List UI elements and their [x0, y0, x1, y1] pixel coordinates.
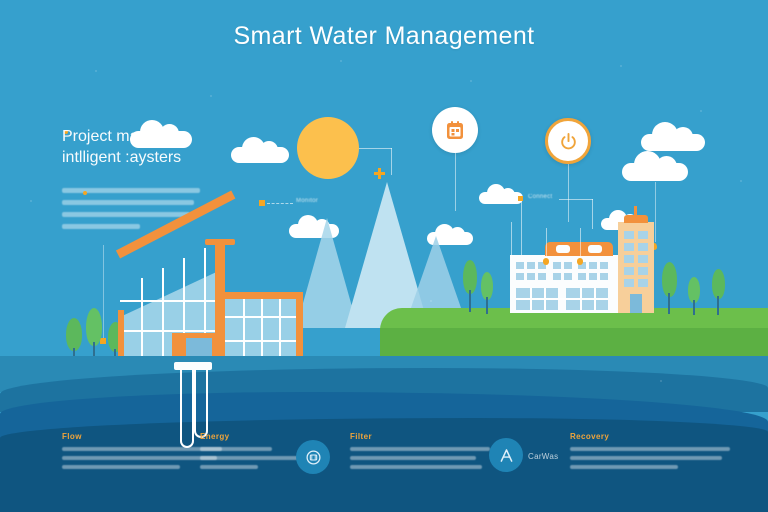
power-icon: [559, 132, 578, 151]
building-window: [538, 273, 546, 280]
power-pin-disc[interactable]: [545, 118, 591, 164]
power-pin-stem: [568, 164, 569, 222]
greenhouse-transom: [225, 316, 300, 318]
building-window: [578, 273, 586, 280]
marker-right-square[interactable]: [518, 196, 523, 201]
sensor-strand-3: [580, 228, 581, 260]
lead-copy-block: Project managen intlligent :aysters: [62, 126, 247, 236]
glazing-transom: [516, 298, 608, 300]
sun-connector-vertical: [391, 148, 392, 175]
building-window: [600, 262, 608, 269]
sensor-bulb-2: [577, 258, 583, 265]
meter-icon: [305, 449, 322, 466]
sun-connector-horizontal: [359, 148, 392, 149]
cloud-5: [479, 192, 523, 204]
calendar-icon: [445, 120, 465, 141]
building-window: [589, 262, 597, 269]
fact-filter-heading: Filter: [350, 432, 495, 441]
tower-window: [624, 243, 634, 251]
fact-filter: Filter: [350, 432, 495, 474]
letter-a-icon: [497, 446, 516, 465]
calendar-pin-stem: [455, 153, 456, 211]
greenhouse-mullion: [162, 268, 164, 364]
building-antenna: [634, 206, 637, 217]
intake-pipe-2: [194, 368, 208, 438]
greenhouse-ridge-cap: [205, 239, 235, 245]
lead-heading-line-2: intlligent :aysters: [62, 147, 247, 168]
building-window: [527, 273, 535, 280]
tower-window: [624, 231, 634, 239]
building-window: [516, 273, 524, 280]
tower-window: [624, 255, 634, 263]
marker-left-dash: [267, 203, 293, 205]
sensor-strand-1: [511, 222, 512, 260]
calendar-pin-disc[interactable]: [432, 107, 478, 153]
greenhouse-mullion: [261, 298, 263, 364]
building-roof-vent-b: [588, 245, 602, 253]
marker-right-stem-b: [592, 199, 593, 229]
greenhouse-post-right: [296, 292, 303, 364]
ground-right-lower: [380, 328, 768, 356]
pipe-collar: [174, 362, 212, 370]
lead-body-text: [62, 188, 247, 229]
building-window: [564, 262, 572, 269]
greenhouse-eave-right: [225, 292, 303, 299]
building-window: [527, 262, 535, 269]
marker-left-square[interactable]: [259, 200, 265, 206]
sensor-bulb-1: [543, 258, 549, 265]
meter-badge[interactable]: [296, 440, 330, 474]
page-title: Smart Water Management: [0, 22, 768, 51]
tower-window: [638, 255, 648, 263]
tower-window: [638, 231, 648, 239]
greenhouse-transom: [120, 300, 225, 302]
tower-window: [624, 267, 634, 275]
building-window: [589, 273, 597, 280]
guide-line-left: [103, 245, 104, 340]
sensor-strand-2: [546, 228, 547, 260]
cloud-6: [641, 134, 705, 151]
tower-window: [638, 279, 648, 287]
building-window: [600, 273, 608, 280]
greenhouse-transom: [120, 330, 225, 332]
building-window: [553, 273, 561, 280]
power-pin[interactable]: [545, 118, 591, 222]
illustration-canvas: Smart Water Management: [0, 0, 768, 512]
tree-right-1: [463, 260, 477, 312]
tower-entry: [630, 294, 642, 313]
fact-energy: Energy: [200, 432, 312, 474]
tower-window: [638, 243, 648, 251]
greenhouse-mullion: [141, 278, 143, 364]
carwash-badge-label: CarWas: [528, 452, 558, 461]
fact-energy-heading: Energy: [200, 432, 312, 441]
tree-right-3: [662, 262, 677, 314]
building-window: [564, 273, 572, 280]
fact-recovery-heading: Recovery: [570, 432, 738, 441]
tree-right-4: [688, 277, 700, 315]
fact-recovery: Recovery: [570, 432, 738, 474]
building-roof-vent-a: [556, 245, 570, 253]
marker-right-stem-a: [521, 199, 522, 261]
tree-right-5: [712, 269, 725, 315]
building-window: [553, 262, 561, 269]
cloud-7: [622, 163, 688, 181]
marker-left-label: Monitor: [296, 198, 318, 204]
tree-right-2: [481, 272, 493, 314]
sun: [297, 117, 359, 179]
tower-window: [624, 279, 634, 287]
peak-sparkle-icon: [374, 168, 385, 179]
building-window: [516, 262, 524, 269]
greenhouse-mullion: [243, 298, 245, 364]
carwash-badge[interactable]: [489, 438, 523, 472]
lead-heading-line-1: Project managen: [62, 126, 247, 147]
greenhouse-mullion: [279, 298, 281, 364]
greenhouse-transom: [225, 340, 300, 342]
tower-window: [638, 267, 648, 275]
rain-strand-1: [655, 182, 656, 242]
lead-bullet-body: [83, 191, 87, 195]
calendar-pin[interactable]: [432, 107, 478, 211]
